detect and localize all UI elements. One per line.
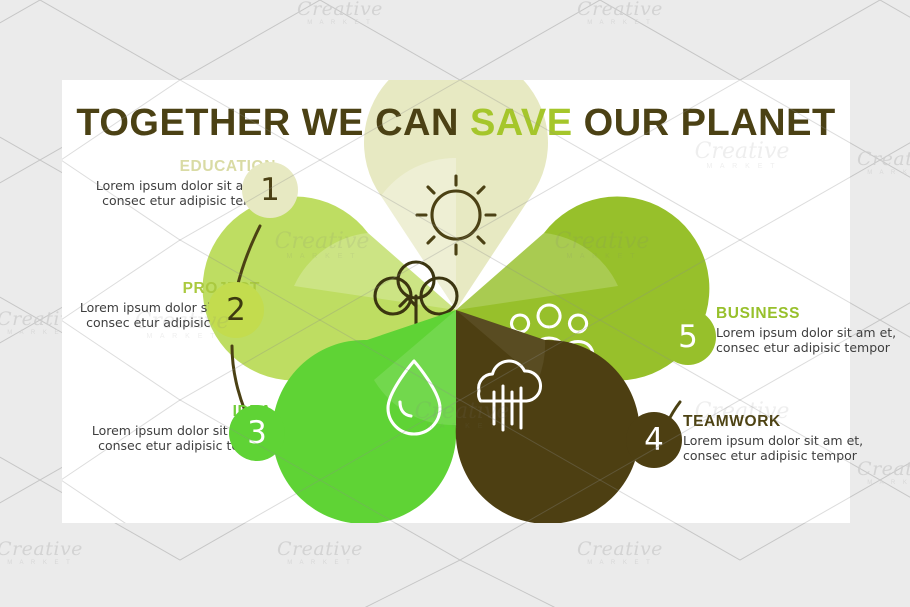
number-label-2: 2 bbox=[226, 292, 246, 328]
item-block-business: BUSINESS Lorem ipsum dolor sit am et, co… bbox=[716, 305, 902, 356]
item-body-teamwork: Lorem ipsum dolor sit am et, consec etur… bbox=[683, 433, 869, 464]
watermark-label: Creative M A R K E T bbox=[240, 540, 400, 566]
watermark-label: Creative M A R K E T bbox=[540, 540, 700, 566]
page-title: TOGETHER WE CAN SAVE OUR PLANET bbox=[62, 102, 850, 145]
item-body-business: Lorem ipsum dolor sit am et, consec etur… bbox=[716, 325, 902, 356]
item-label-business: BUSINESS bbox=[716, 305, 902, 323]
number-circle-4[interactable]: 4 bbox=[626, 412, 682, 468]
number-circle-2[interactable]: 2 bbox=[208, 282, 264, 338]
number-circle-1[interactable]: 1 bbox=[242, 162, 298, 218]
title-part-after: OUR PLANET bbox=[573, 102, 836, 144]
number-label-1: 1 bbox=[260, 172, 280, 208]
number-circle-3[interactable]: 3 bbox=[229, 405, 285, 461]
infographic-slide: Creative M A R K E T Creative M A R K E … bbox=[0, 0, 910, 607]
title-highlight: SAVE bbox=[470, 102, 573, 144]
number-circle-5[interactable]: 5 bbox=[660, 309, 716, 365]
number-label-5: 5 bbox=[678, 319, 698, 355]
number-label-4: 4 bbox=[644, 422, 664, 458]
title-part-before: TOGETHER WE CAN bbox=[76, 102, 470, 144]
item-label-teamwork: TEAMWORK bbox=[683, 413, 869, 431]
watermark-label: Creative M A R K E T bbox=[0, 540, 120, 566]
slide-card: TOGETHER WE CAN SAVE OUR PLANET bbox=[62, 80, 850, 523]
watermark-label: Creative M A R K E T bbox=[540, 0, 700, 26]
item-block-teamwork: TEAMWORK Lorem ipsum dolor sit am et, co… bbox=[683, 413, 869, 464]
watermark-label: Creative M A R K E T bbox=[260, 0, 420, 26]
number-label-3: 3 bbox=[247, 415, 267, 451]
